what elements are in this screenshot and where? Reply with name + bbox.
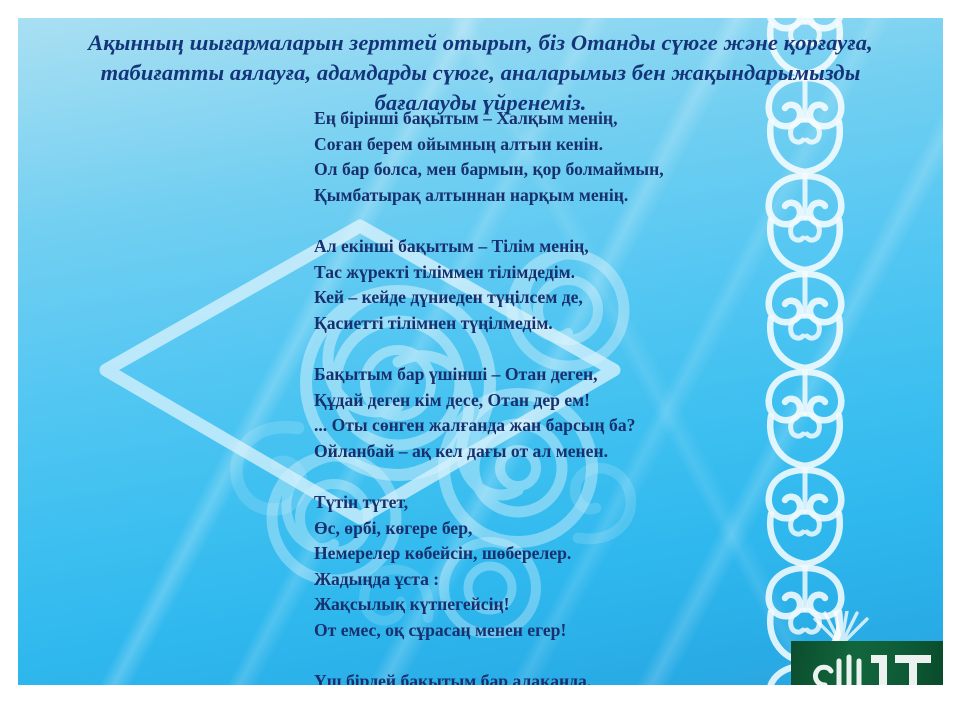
poem-stanza: Түтін түтет,Өс, өрбі, көгере бер,Немерел… [314, 490, 834, 644]
poem-line: Ең бірінші бақытым – Халқым менің, [314, 106, 834, 132]
poem-line: ... Оты сөнген жалғанда жан барсың ба? [314, 413, 834, 439]
poem-stanza: Ал екінші бақытым – Тілім менің,Тас жүре… [314, 234, 834, 336]
poem-line: Ол бар болса, мен бармын, қор болмаймын, [314, 157, 834, 183]
poem-line: Немерелер көбейсін, шөберелер. [314, 541, 834, 567]
poem-line: Тас жүректі тіліммен тілімдедім. [314, 260, 834, 286]
poem-line: Үш бірдей бақытым бар алақанда, [314, 669, 834, 685]
poem-line: Қымбатырақ алтыннан нарқым менің. [314, 183, 834, 209]
poem-stanza: Ең бірінші бақытым – Халқым менің,Соған … [314, 106, 834, 208]
poem-line: Қасиетті тілімнен түңілмедім. [314, 311, 834, 337]
logo-mark-icon [791, 641, 943, 685]
poem-line: Өс, өрбі, көгере бер, [314, 516, 834, 542]
slide-canvas: Ақынның шығармаларын зерттей отырып, біз… [18, 18, 943, 685]
poem-line: Соған берем ойымның алтын кенін. [314, 132, 834, 158]
poem-line: Жадыңда ұста : [314, 567, 834, 593]
poem-text-block: Ең бірінші бақытым – Халқым менің,Соған … [314, 106, 834, 685]
poem-line: Бақытым бар үшінші – Отан деген, [314, 362, 834, 388]
green-corner-logo [791, 641, 943, 685]
poem-line: Жақсылық күтпегейсің! [314, 592, 834, 618]
poem-line: Ал екінші бақытым – Тілім менің, [314, 234, 834, 260]
poem-line: От емес, оқ сұрасаң менен егер! [314, 618, 834, 644]
poem-line: Ойланбай – ақ кел дағы от ал менен. [314, 439, 834, 465]
poem-line: Түтін түтет, [314, 490, 834, 516]
poem-stanza: Үш бірдей бақытым бар алақанда,(Мені мұн… [314, 669, 834, 685]
presentation-slide: Ақынның шығармаларын зерттей отырып, біз… [0, 0, 960, 720]
poem-stanza: Бақытым бар үшінші – Отан деген,Құдай де… [314, 362, 834, 464]
poem-line: Құдай деген кім десе, Отан дер ем! [314, 388, 834, 414]
slide-title: Ақынның шығармаларын зерттей отырып, біз… [58, 28, 903, 118]
poem-line: Кей – кейде дүниеден түңілсем де, [314, 285, 834, 311]
